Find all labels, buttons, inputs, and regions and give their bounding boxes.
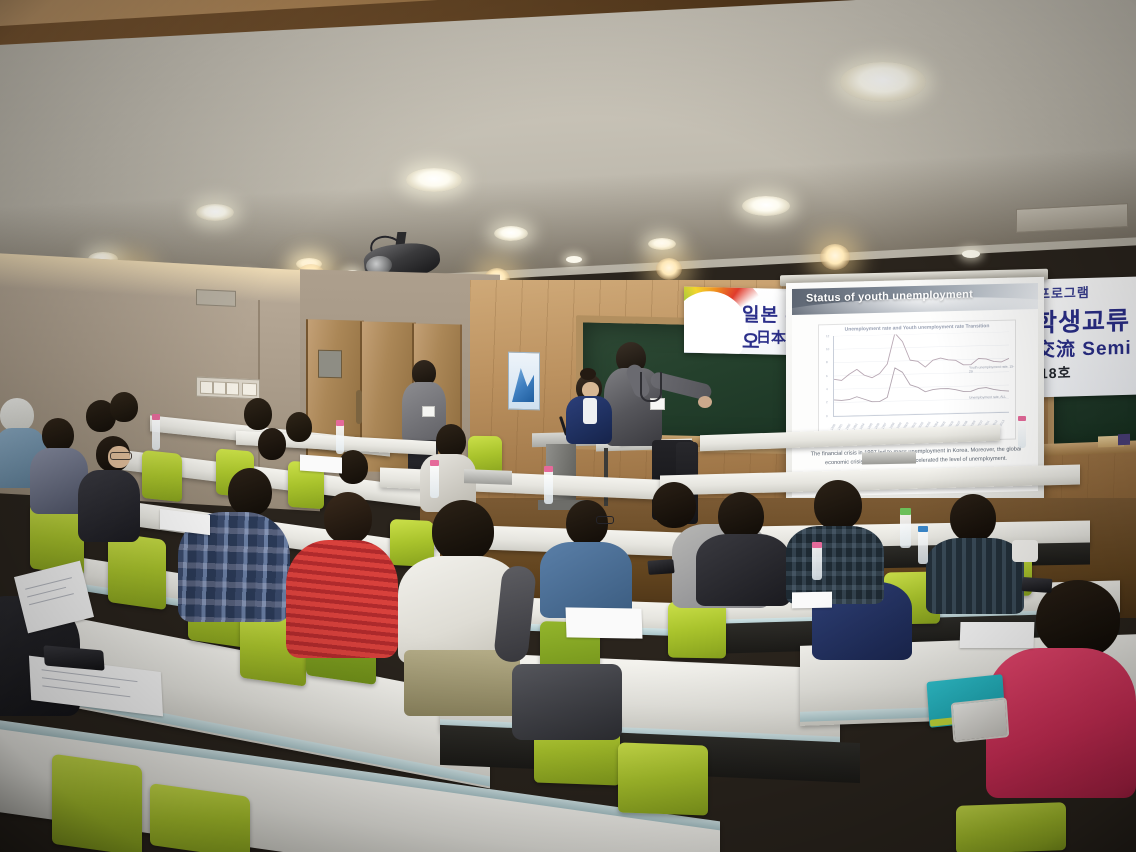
handout	[300, 455, 342, 474]
attendee-body-pink	[986, 648, 1136, 798]
banner-right-line4: 18호	[1040, 362, 1071, 383]
banner-right-line3: 交流 Semi	[1036, 333, 1132, 363]
banner-right: 프로그램 학생교류 交流 Semi 18호	[1032, 276, 1136, 397]
attendee-head	[228, 468, 272, 516]
chart-y-tick: 2	[826, 400, 828, 404]
chalk-box	[1118, 434, 1130, 445]
wall-vent	[196, 289, 236, 307]
chair[interactable]	[142, 450, 182, 502]
attendee-head	[244, 398, 272, 430]
chair[interactable]	[618, 742, 708, 815]
tissue	[1012, 540, 1038, 562]
chair[interactable]	[668, 601, 726, 658]
attendee-head	[718, 492, 764, 540]
presenter-hand	[698, 396, 712, 408]
ceiling-light	[406, 168, 462, 192]
bottle-cap	[544, 466, 553, 472]
chart-plot-area: 121086420	[833, 332, 1009, 417]
attendee-head	[432, 500, 494, 562]
attendee-head	[814, 480, 862, 530]
chart-y-tick: 4	[826, 387, 828, 391]
banner-right-line1: 프로그램	[1038, 282, 1090, 302]
chair[interactable]	[956, 802, 1066, 852]
attendee-head	[286, 412, 312, 442]
attendee-body-plaid3	[926, 538, 1024, 614]
water-bottle	[152, 418, 160, 450]
attendee-body-red	[286, 540, 398, 658]
chart-y-tick: 8	[826, 360, 828, 364]
laptop-back-row	[862, 452, 916, 465]
jacket-on-chair	[512, 664, 622, 740]
slide: Status of youth unemployment Unemploymen…	[792, 283, 1038, 497]
attendee-body	[78, 470, 140, 542]
bottle-cap	[430, 460, 439, 466]
ceiling-light	[840, 62, 926, 102]
ceiling-light	[566, 256, 582, 263]
handout	[960, 622, 1035, 648]
attendee-head	[436, 424, 466, 458]
ceiling-light	[742, 196, 790, 216]
attendee-head	[0, 398, 34, 432]
moderator-blouse	[583, 398, 597, 424]
water-bottle	[336, 424, 344, 454]
water-bottle	[1018, 420, 1026, 448]
lecture-room-photo: 일본 쥬오 日本 프로그램 학생교류 交流 Semi 18호 Status of…	[0, 0, 1136, 852]
ceiling-light-warm	[820, 244, 850, 270]
slide-caption: The financial crisis in 1997 led to mass…	[808, 445, 1024, 468]
ceiling-light	[648, 238, 676, 250]
attendee-body-dark	[696, 534, 790, 606]
water-bottle	[900, 512, 911, 548]
chair[interactable]	[108, 532, 166, 610]
tablet[interactable]	[951, 697, 1010, 743]
bottle-cap	[812, 542, 822, 548]
handout	[565, 607, 642, 638]
presenter-lanyard	[640, 372, 662, 402]
attendee-head	[950, 494, 996, 542]
bottle-cap	[1018, 416, 1026, 421]
ceiling-light	[962, 250, 980, 258]
attendee-head	[258, 428, 286, 460]
water-bottle	[918, 530, 928, 564]
door-window	[318, 350, 342, 379]
chart-y-tick: 0	[826, 414, 828, 418]
water-bottle	[544, 470, 553, 504]
ceiling-light	[494, 226, 528, 241]
banner-left-line2: 日本	[756, 326, 786, 348]
attendee-head	[338, 450, 368, 484]
attendee-head	[324, 492, 372, 544]
smartphone[interactable]	[1022, 577, 1053, 593]
chart-legend-youth: Youth unemployment rate, 15-29	[969, 365, 1015, 375]
door-handle[interactable]	[356, 390, 362, 424]
attendee-head	[110, 392, 138, 422]
ceiling-light-warm	[656, 258, 682, 280]
water-bottle	[430, 464, 439, 498]
chair[interactable]	[52, 754, 142, 852]
moderator-hair-bun	[580, 368, 596, 380]
attendee-head	[42, 418, 74, 452]
eyeglasses-icon	[596, 516, 614, 524]
attendee-body-denim	[540, 542, 632, 618]
eyeglasses-icon	[110, 452, 132, 460]
chart-y-tick: 12	[826, 334, 829, 338]
smartphone[interactable]	[647, 559, 674, 575]
bottle-cap	[336, 420, 344, 426]
light-switch-panel[interactable]	[196, 377, 260, 400]
handout	[792, 592, 832, 609]
attendee-head	[652, 482, 696, 528]
bottle-cap	[918, 526, 928, 532]
laptop-back-row	[464, 469, 512, 485]
water-bottle	[812, 546, 822, 580]
ceiling-light	[196, 204, 234, 221]
bottle-cap	[900, 508, 911, 515]
bottle-cap	[152, 414, 160, 420]
staff-badge	[422, 406, 435, 417]
chart-y-tick: 6	[826, 374, 828, 378]
chart-y-tick: 10	[826, 347, 829, 351]
